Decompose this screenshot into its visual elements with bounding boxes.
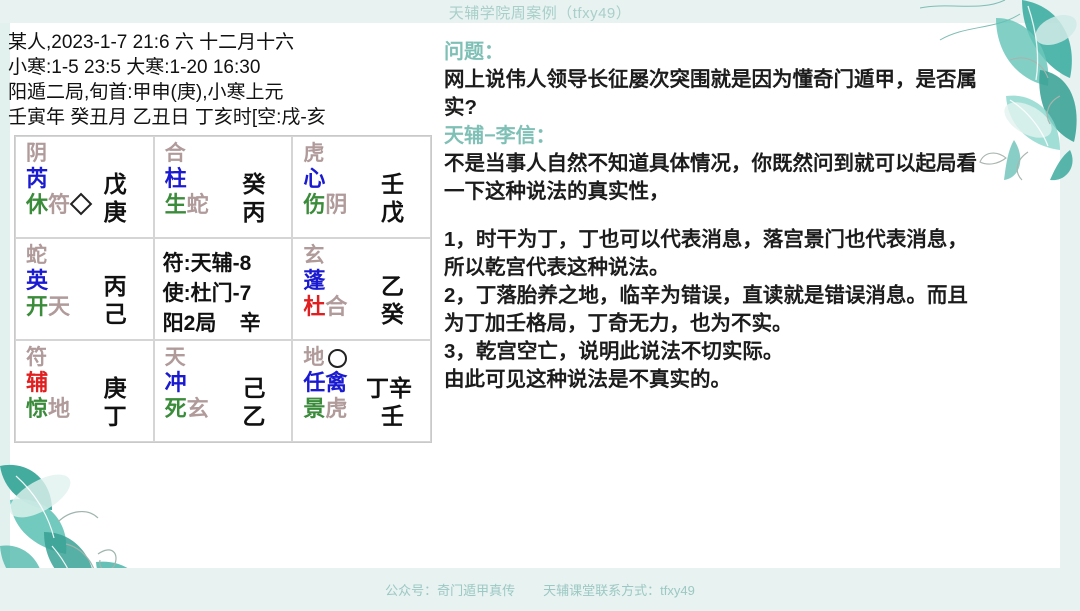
question-text-line-2: 实? — [444, 94, 1058, 122]
palace-shen: 阴 — [325, 193, 347, 217]
palace-cell[interactable]: 阴 芮 休符 戊 庚 — [15, 136, 154, 238]
palace-gate: 伤 — [303, 193, 325, 217]
palace-cell-center[interactable]: 符:天辅-8 使:杜门-7 阳2局 辛 — [154, 238, 293, 340]
palace-shen: 合 — [325, 295, 347, 319]
circle-marker-icon — [328, 349, 347, 368]
qa-panel: 问题： 网上说伟人领导长征屡次突围就是因为懂奇门遁甲，是否属 实? 天辅−李信：… — [444, 38, 1058, 394]
answer-point-3: 3，乾宫空亡，说明此说法不切实际。 — [444, 338, 1058, 366]
answer-point-1-line-2: 所以乾宫代表这种说法。 — [444, 254, 1058, 282]
palace-star: 辅 — [26, 371, 48, 395]
palace-star: 任 — [303, 371, 325, 395]
palace-shen-top: 符 — [26, 346, 47, 369]
palace-star: 蓬 — [303, 269, 325, 293]
center-zhishi-line: 使:杜门-7 — [163, 279, 288, 309]
palace-cell[interactable]: 蛇 英 开天 丙 己 — [15, 238, 154, 340]
palace-cell[interactable]: 符 辅 惊地 庚 丁 — [15, 340, 154, 442]
palace-gan-bottom: 癸 — [381, 295, 404, 329]
palace-shen-top: 地 — [303, 346, 324, 369]
palace-shen: 蛇 — [187, 193, 209, 217]
palace-gate: 死 — [165, 397, 187, 421]
answer-intro-line-1: 不是当事人自然不知道具体情况，你既然问到就可以起局看 — [444, 150, 1058, 178]
meta-line-solarterms: 小寒:1-5 23:5 大寒:1-20 16:30 — [8, 55, 438, 80]
palace-shen-top: 天 — [165, 346, 186, 369]
meta-line-sizhu: 壬寅年 癸丑月 乙丑日 丁亥时[空:戌-亥 — [8, 105, 438, 130]
palace-shen-top: 阴 — [26, 142, 47, 165]
palace-gan-bottom: 壬 — [381, 397, 404, 431]
palace-gan-bottom: 戊 — [381, 193, 404, 227]
answer-conclusion: 由此可见这种说法是不真实的。 — [444, 366, 1058, 394]
palace-cell[interactable]: 天 冲 死玄 己 乙 — [154, 340, 293, 442]
palace-star: 冲 — [165, 371, 187, 395]
question-text-line-1: 网上说伟人领导长征屡次突围就是因为懂奇门遁甲，是否属 — [444, 66, 1058, 94]
palace-shen-top: 虎 — [303, 142, 324, 165]
page-title-bar: 天辅学院周案例（tfxy49） — [0, 0, 1080, 24]
palace-star: 芮 — [26, 167, 48, 191]
palace-gate: 休 — [26, 193, 48, 217]
palace-star-secondary: 禽 — [325, 371, 347, 395]
palace-gan-bottom: 丁 — [104, 397, 127, 431]
palace-shen: 符 — [48, 193, 70, 217]
diamond-marker-icon — [70, 193, 93, 216]
center-ju-line: 阳2局 辛 — [163, 309, 288, 339]
palace-gan-bottom: 丙 — [242, 193, 265, 227]
answer-author-label: 天辅−李信： — [444, 122, 1058, 150]
palace-gate: 杜 — [303, 295, 325, 319]
footer-public-account: 公众号：奇门遁甲真传 — [385, 580, 515, 599]
palace-star: 柱 — [165, 167, 187, 191]
palace-shen-top: 玄 — [303, 244, 324, 267]
palace-gate: 生 — [165, 193, 187, 217]
palace-cell[interactable]: 虎 心 伤阴 壬 戊 — [292, 136, 431, 238]
palace-star: 英 — [26, 269, 48, 293]
palace-gate: 景 — [303, 397, 325, 421]
answer-intro-line-2: 一下这种说法的真实性， — [444, 178, 1058, 206]
chart-meta-block: 某人,2023-1-7 21:6 六 十二月十六 小寒:1-5 23:5 大寒:… — [0, 26, 440, 130]
question-label: 问题： — [444, 38, 1058, 66]
footer-contact: 天辅课堂联系方式：tfxy49 — [543, 580, 695, 599]
palace-gate: 开 — [26, 295, 48, 319]
meta-line-jushu: 阳遁二局,旬首:甲申(庚),小寒上元 — [8, 80, 438, 105]
palace-cell[interactable]: 地 任禽 景虎 丁辛 壬 — [292, 340, 431, 442]
palace-gan-bottom: 乙 — [242, 397, 265, 431]
palace-shen: 天 — [48, 295, 70, 319]
qimen-nine-palace-grid: 阴 芮 休符 戊 庚 合 柱 生蛇 癸 丙 虎 心 伤阴 壬 戊 — [14, 135, 432, 443]
palace-shen: 地 — [48, 397, 70, 421]
palace-shen-top: 蛇 — [26, 244, 47, 267]
palace-star: 心 — [303, 167, 325, 191]
qimen-chart-panel: 某人,2023-1-7 21:6 六 十二月十六 小寒:1-5 23:5 大寒:… — [0, 26, 440, 443]
answer-point-2-line-2: 为丁加壬格局，丁奇无力，也为不实。 — [444, 310, 1058, 338]
palace-gan-bottom: 己 — [104, 295, 127, 329]
paragraph-spacer — [444, 206, 1058, 226]
meta-line-datetime: 某人,2023-1-7 21:6 六 十二月十六 — [8, 30, 438, 55]
answer-point-2-line-1: 2，丁落胎养之地，临辛为错误，直读就是错误消息。而且 — [444, 282, 1058, 310]
center-zhifu-line: 符:天辅-8 — [163, 249, 288, 279]
palace-shen: 虎 — [325, 397, 347, 421]
palace-cell[interactable]: 合 柱 生蛇 癸 丙 — [154, 136, 293, 238]
page-title: 天辅学院周案例（tfxy49） — [449, 2, 632, 23]
page-footer: 公众号：奇门遁甲真传 天辅课堂联系方式：tfxy49 — [0, 568, 1080, 611]
palace-gan-bottom: 庚 — [104, 193, 127, 227]
palace-shen-top: 合 — [165, 142, 186, 165]
palace-gate: 惊 — [26, 397, 48, 421]
palace-cell[interactable]: 玄 蓬 杜合 乙 癸 — [292, 238, 431, 340]
palace-shen: 玄 — [187, 397, 209, 421]
answer-point-1-line-1: 1，时干为丁，丁也可以代表消息，落宫景门也代表消息， — [444, 226, 1058, 254]
